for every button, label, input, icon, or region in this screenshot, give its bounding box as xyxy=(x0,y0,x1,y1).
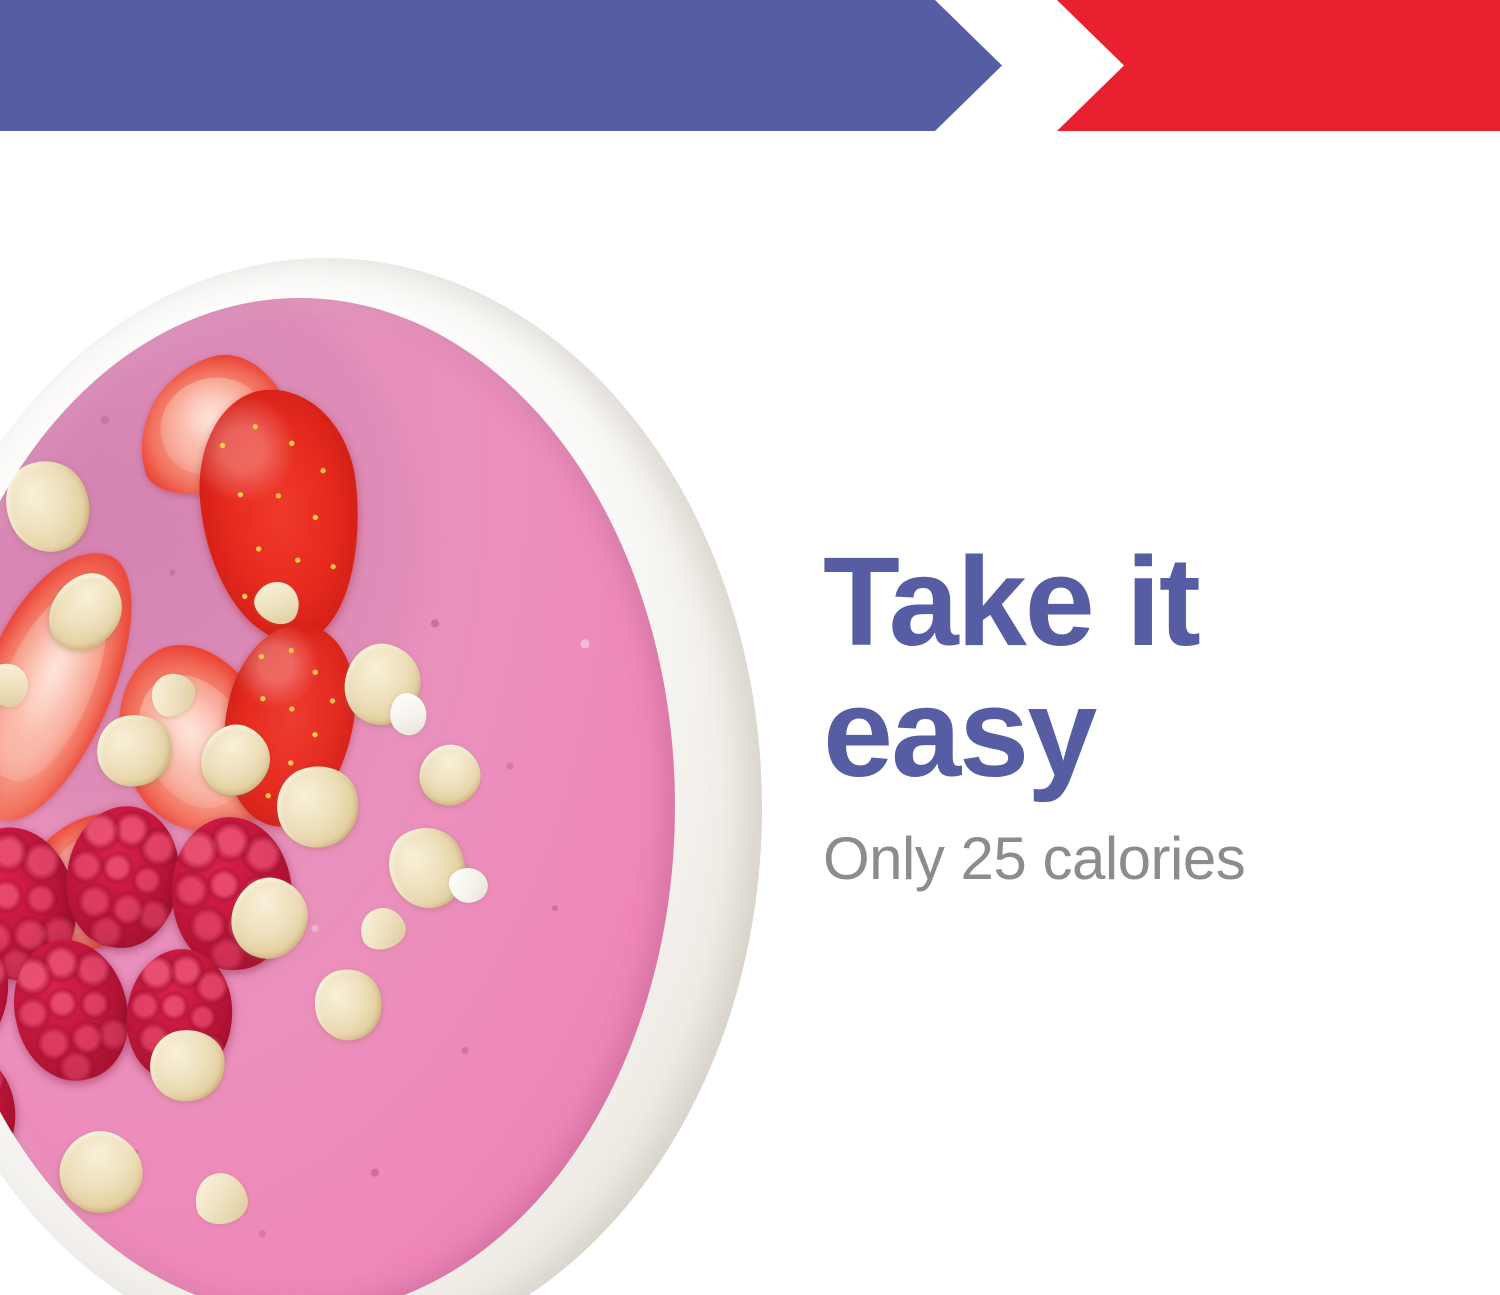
purple-chevron-band xyxy=(0,0,1002,131)
bowl-interior xyxy=(0,298,675,1295)
header-chevron-band xyxy=(0,0,1500,131)
smoothie-bowl-image xyxy=(0,258,762,1295)
subhead: Only 25 calories xyxy=(823,824,1443,893)
headline: Take it easy xyxy=(823,536,1443,798)
banner-canvas: Take it easy Only 25 calories xyxy=(0,0,1500,1295)
copy-block: Take it easy Only 25 calories xyxy=(823,536,1443,893)
red-chevron-band xyxy=(1000,0,1500,131)
